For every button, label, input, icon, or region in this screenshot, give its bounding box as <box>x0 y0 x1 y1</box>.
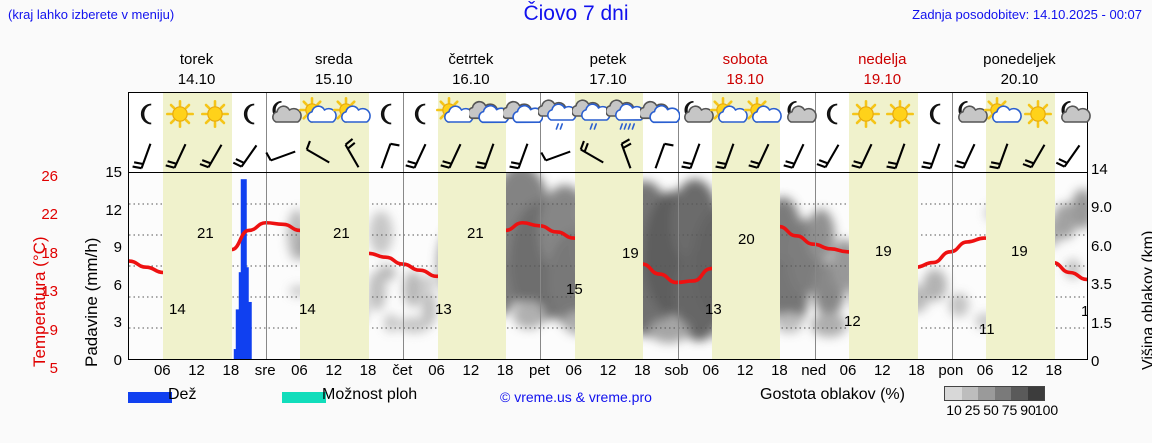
temperature-value-label: 20 <box>738 231 755 248</box>
precipitation-tick: 6 <box>96 277 122 294</box>
temperature-value-label: 21 <box>197 225 214 242</box>
moon-cloud-icon <box>1052 97 1092 133</box>
rain-bar <box>246 302 252 359</box>
temperature-tick: 26 <box>18 168 58 185</box>
day-header-sobota: sobota18.10 <box>677 50 814 90</box>
day-name: sobota <box>677 50 814 70</box>
daylight-band <box>300 173 369 359</box>
daylight-band <box>163 173 232 359</box>
day-header-nedelja: nedelja19.10 <box>814 50 951 90</box>
day-date: 18.10 <box>677 70 814 90</box>
last-update-text: Zadnja posodobitev: 14.10.2025 - 00:07 <box>912 7 1142 22</box>
day-header-sreda: sreda15.10 <box>265 50 402 90</box>
temperature-value-label: 15 <box>566 281 583 298</box>
day-date: 19.10 <box>814 70 951 90</box>
precipitation-axis-title: Padavine (mm/h) <box>60 175 84 370</box>
temperature-value-label: 11 <box>979 321 995 338</box>
temperature-value-label: 14 <box>169 301 186 318</box>
rain-legend-label: Dež <box>168 386 196 404</box>
cloud-density-colorbar <box>944 386 1045 401</box>
day-separator <box>815 173 816 359</box>
day-name: nedelja <box>814 50 951 70</box>
showers-legend-swatch <box>282 392 326 403</box>
day-date: 15.10 <box>265 70 402 90</box>
cloud-density-swatch <box>995 387 1012 400</box>
rain-legend-swatch <box>128 392 172 403</box>
temperature-value-label: 13 <box>435 301 452 318</box>
rain-bar <box>234 349 240 359</box>
temperature-value-label: 13 <box>705 301 722 318</box>
day-separator <box>540 173 541 359</box>
cloud-density-swatch <box>962 387 979 400</box>
day-name: torek <box>128 50 265 70</box>
cloud-density-swatch <box>1011 387 1028 400</box>
temperature-value-label: 19 <box>622 245 639 262</box>
temperature-tick: 13 <box>18 283 58 300</box>
day-name: sreda <box>265 50 402 70</box>
day-separator <box>952 173 953 359</box>
precipitation-tick: 9 <box>96 239 122 256</box>
temperature-value-label: 19 <box>875 243 892 260</box>
day-date: 16.10 <box>402 70 539 90</box>
cloud-density-swatch <box>945 387 962 400</box>
cloud-height-tick: 6.0 <box>1091 238 1125 255</box>
day-name: petek <box>539 50 676 70</box>
day-separator <box>266 173 267 359</box>
day-header-četrtek: četrtek16.10 <box>402 50 539 90</box>
temperature-tick: 5 <box>18 360 58 377</box>
cloud-density-swatch <box>978 387 995 400</box>
day-date: 14.10 <box>128 70 265 90</box>
copyright-text[interactable]: © vreme.us & vreme.pro <box>500 389 652 405</box>
temperature-tick: 9 <box>18 322 58 339</box>
precipitation-tick: 15 <box>96 164 122 181</box>
cloud-density-swatch <box>1028 387 1045 400</box>
daylight-band <box>438 173 507 359</box>
graph-area: 142114211321151913201219111914 <box>128 172 1088 360</box>
day-header-row: torek14.10sreda15.10četrtek16.10petek17.… <box>128 50 1088 92</box>
wind-barb-band <box>128 136 1088 172</box>
cloud-height-axis-label: Višina oblakov (km) <box>1140 231 1152 370</box>
day-date: 20.10 <box>951 70 1088 90</box>
day-name: četrtek <box>402 50 539 70</box>
temperature-value-label: 21 <box>467 225 484 242</box>
day-date: 17.10 <box>539 70 676 90</box>
cloud-height-axis-title: Višina oblakov (km) <box>1118 165 1144 375</box>
cloud-height-tick: 1.5 <box>1091 315 1125 332</box>
daylight-band <box>986 173 1055 359</box>
page-header: (kraj lahko izberete v meniju) Čiovo 7 d… <box>0 0 1152 30</box>
temperature-value-label: 19 <box>1011 243 1028 260</box>
temperature-axis-title: Temperatura (°C) <box>10 175 34 370</box>
x-axis-tick: 18 <box>1034 362 1074 379</box>
temperature-value-label: 12 <box>844 313 861 330</box>
precipitation-axis-label: Padavine (mm/h) <box>82 238 102 367</box>
temperature-value-label: 21 <box>333 225 350 242</box>
cloud-height-tick: 0 <box>1091 353 1125 370</box>
daylight-band <box>712 173 781 359</box>
day-header-torek: torek14.10 <box>128 50 265 90</box>
day-header-petek: petek17.10 <box>539 50 676 90</box>
day-header-ponedeljek: ponedeljek20.10 <box>951 50 1088 90</box>
temperature-value-label: 14 <box>1081 303 1088 320</box>
weather-icon-band <box>128 92 1088 136</box>
cloud-height-tick: 14 <box>1091 161 1125 178</box>
wind-barb <box>1052 136 1092 172</box>
day-separator <box>678 173 679 359</box>
precipitation-tick: 12 <box>96 202 122 219</box>
temperature-value-label: 14 <box>299 301 316 318</box>
cloud-height-tick: 3.5 <box>1091 276 1125 293</box>
cloud-height-tick: 9.0 <box>1091 199 1125 216</box>
temperature-tick: 18 <box>18 245 58 262</box>
day-name: ponedeljek <box>951 50 1088 70</box>
temperature-tick: 22 <box>18 206 58 223</box>
forecast-plot: 142114211321151913201219111914 <box>128 92 1088 360</box>
day-separator <box>403 173 404 359</box>
daylight-band <box>575 173 644 359</box>
daylight-band <box>849 173 918 359</box>
showers-legend-label: Možnost ploh <box>322 386 417 404</box>
cloud-density-tick: 100 <box>1034 402 1060 418</box>
cloud-density-legend-label: Gostota oblakov (%) <box>760 386 905 404</box>
precipitation-tick: 0 <box>96 352 122 369</box>
precipitation-tick: 3 <box>96 314 122 331</box>
